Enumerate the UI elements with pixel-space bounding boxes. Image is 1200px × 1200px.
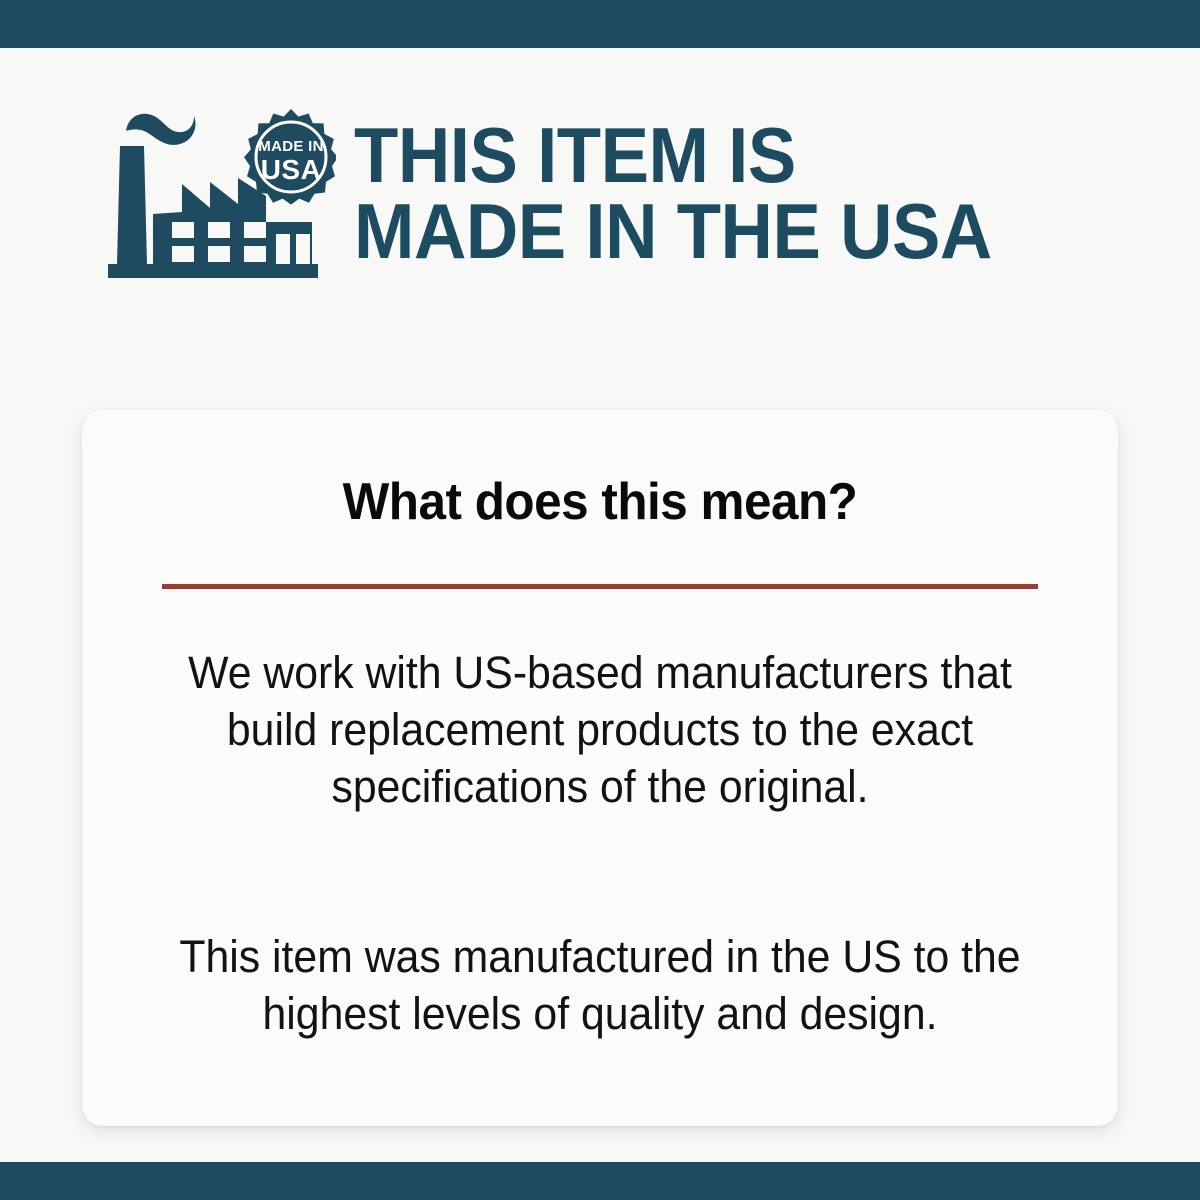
svg-text:MADE IN: MADE IN	[258, 138, 323, 155]
top-accent-bar	[0, 0, 1200, 48]
page-title-line-2: MADE IN THE USA	[354, 193, 1102, 269]
card-heading: What does this mean?	[108, 472, 1092, 532]
page-title-line-1: THIS ITEM IS	[354, 117, 1102, 193]
header: MADE IN USA THIS ITEM IS MADE IN THE USA	[98, 100, 1158, 290]
card-paragraph-2: This item was manufactured in the US to …	[173, 928, 1028, 1042]
factory-made-in-usa-icon: MADE IN USA	[98, 104, 336, 286]
svg-text:USA: USA	[261, 154, 322, 185]
card-paragraph-1: We work with US-based manufacturers that…	[173, 644, 1028, 815]
heading-divider	[162, 584, 1038, 589]
page-canvas: MADE IN USA THIS ITEM IS MADE IN THE USA…	[0, 48, 1200, 1162]
explanation-card: What does this mean? We work with US-bas…	[82, 410, 1118, 1126]
header-title-block: THIS ITEM IS MADE IN THE USA	[336, 117, 1158, 274]
bottom-accent-bar	[0, 1162, 1200, 1200]
